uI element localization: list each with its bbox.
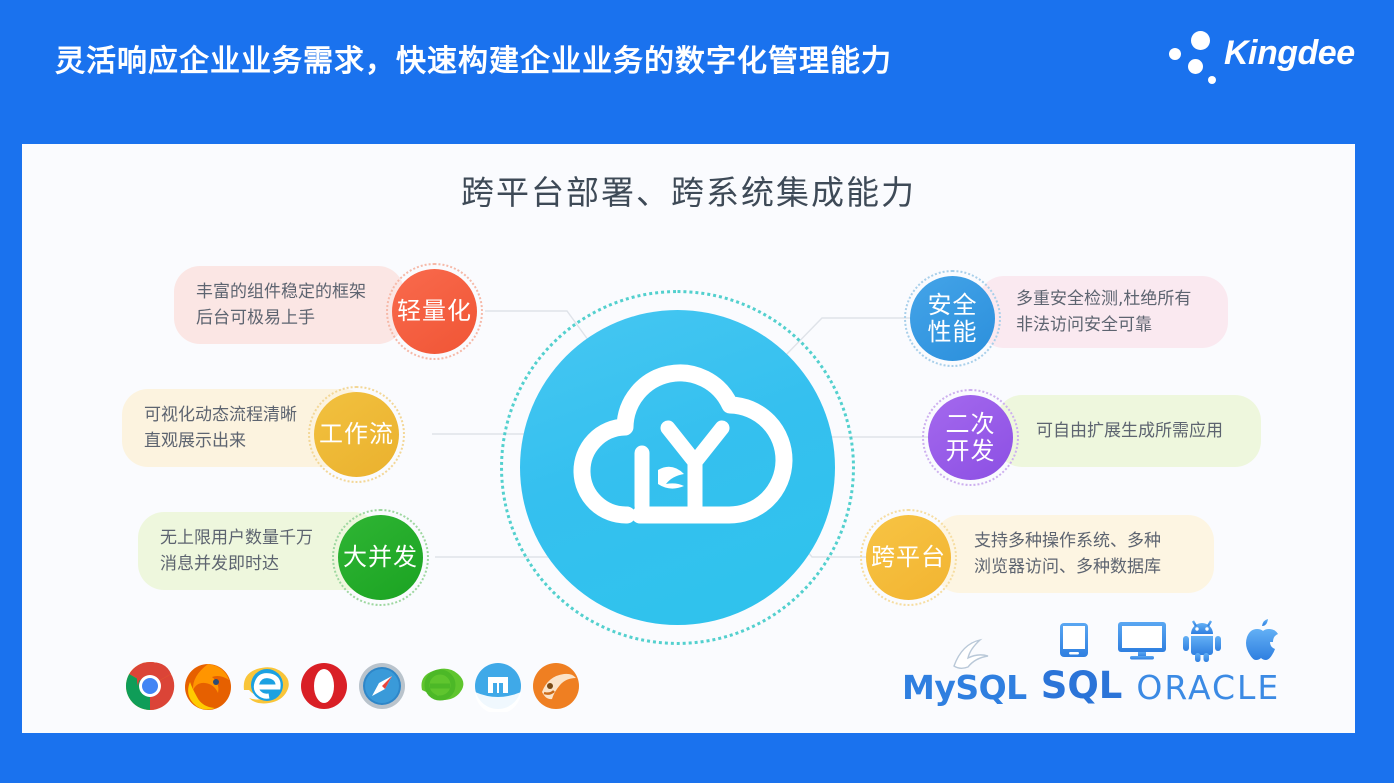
mysql-logo: MySQL (902, 668, 1027, 707)
android-icon (1178, 616, 1226, 664)
kingdee-dots-icon (1162, 26, 1224, 88)
feature-description-cross-platform: 支持多种操作系统、多种 浏览器访问、多种数据库 (934, 515, 1214, 593)
supported-databases-strip: MySQL SQL ORACLE (902, 664, 1280, 707)
feature-bubble-concurrency[interactable]: 大并发 (338, 515, 423, 600)
desktop-monitor-icon (1114, 616, 1162, 664)
brand-name: Kingdee (1224, 34, 1355, 73)
feature-description-security: 多重安全检测,杜绝所有 非法访问安全可靠 (978, 276, 1228, 348)
apple-icon (1242, 616, 1290, 664)
feature-bubble-lightweight[interactable]: 轻量化 (392, 269, 477, 354)
supported-browsers-strip (124, 660, 582, 712)
opera-icon (298, 660, 350, 712)
liebao-browser-icon (530, 660, 582, 712)
feature-description-secondary-development: 可自由扩展生成所需应用 (996, 395, 1261, 467)
360-browser-icon (414, 660, 466, 712)
bubble-dotted-ring (922, 389, 1019, 486)
desc-line-1: 丰富的组件稳定的框架 (196, 282, 366, 302)
desc-line-1: 支持多种操作系统、多种 (974, 531, 1161, 551)
logo-dot-small (1208, 76, 1216, 84)
desc-line-1: 可自由扩展生成所需应用 (1036, 421, 1223, 441)
maxthon-browser-icon (472, 660, 524, 712)
supported-platforms-strip (1050, 616, 1290, 664)
desc-line-2: 后台可极易上手 (196, 308, 315, 328)
desc-line-1: 可视化动态流程清晰 (144, 405, 297, 425)
sql-server-logo: SQL (1041, 664, 1123, 707)
feature-bubble-workflow[interactable]: 工作流 (314, 392, 399, 477)
desc-line-2: 直观展示出来 (144, 431, 246, 451)
desc-line-2: 消息并发即时达 (160, 554, 279, 574)
firefox-icon (182, 660, 234, 712)
desc-line-2: 非法访问安全可靠 (1016, 315, 1152, 335)
feature-bubble-security[interactable]: 安全 性能 (910, 276, 995, 361)
oracle-logo: ORACLE (1136, 668, 1280, 707)
mysql-label: MySQL (902, 668, 1027, 707)
internet-explorer-icon (240, 660, 292, 712)
page-title: 灵活响应企业业务需求，快速构建企业业务的数字化管理能力 (55, 36, 892, 80)
bubble-dotted-ring (904, 270, 1001, 367)
capability-diagram: 丰富的组件稳定的框架 后台可极易上手 轻量化 可视化动态流程清晰 直观展示出来 … (22, 144, 1355, 733)
logo-dot-large (1191, 31, 1210, 50)
logo-dot-medium (1169, 48, 1181, 60)
bubble-dotted-ring (308, 386, 405, 483)
feature-bubble-cross-platform[interactable]: 跨平台 (866, 515, 951, 600)
cloud-logo-icon (520, 310, 835, 625)
desc-line-1: 多重安全检测,杜绝所有 (1016, 289, 1191, 309)
feature-description-lightweight: 丰富的组件稳定的框架 后台可极易上手 (174, 266, 404, 344)
logo-dot-medium-2 (1188, 59, 1203, 74)
chrome-icon (124, 660, 176, 712)
feature-bubble-secondary-development[interactable]: 二次 开发 (928, 395, 1013, 480)
oracle-label: ORACLE (1136, 668, 1280, 707)
tablet-icon (1050, 616, 1098, 664)
page-header: 灵活响应企业业务需求，快速构建企业业务的数字化管理能力 Kingdee (0, 0, 1394, 144)
content-card: 跨平台部署、跨系统集成能力 (22, 144, 1355, 733)
desc-line-2: 浏览器访问、多种数据库 (974, 557, 1161, 577)
bubble-dotted-ring (332, 509, 429, 606)
central-cloud-hub (500, 290, 855, 645)
bubble-dotted-ring (860, 509, 957, 606)
mysql-dolphin-icon (948, 636, 1004, 672)
desc-line-1: 无上限用户数量千万 (160, 528, 313, 548)
bubble-dotted-ring (386, 263, 483, 360)
sql-label: SQL (1041, 664, 1123, 707)
safari-icon (356, 660, 408, 712)
kingdee-logo: Kingdee (1162, 26, 1352, 88)
hub-core-circle (520, 310, 835, 625)
